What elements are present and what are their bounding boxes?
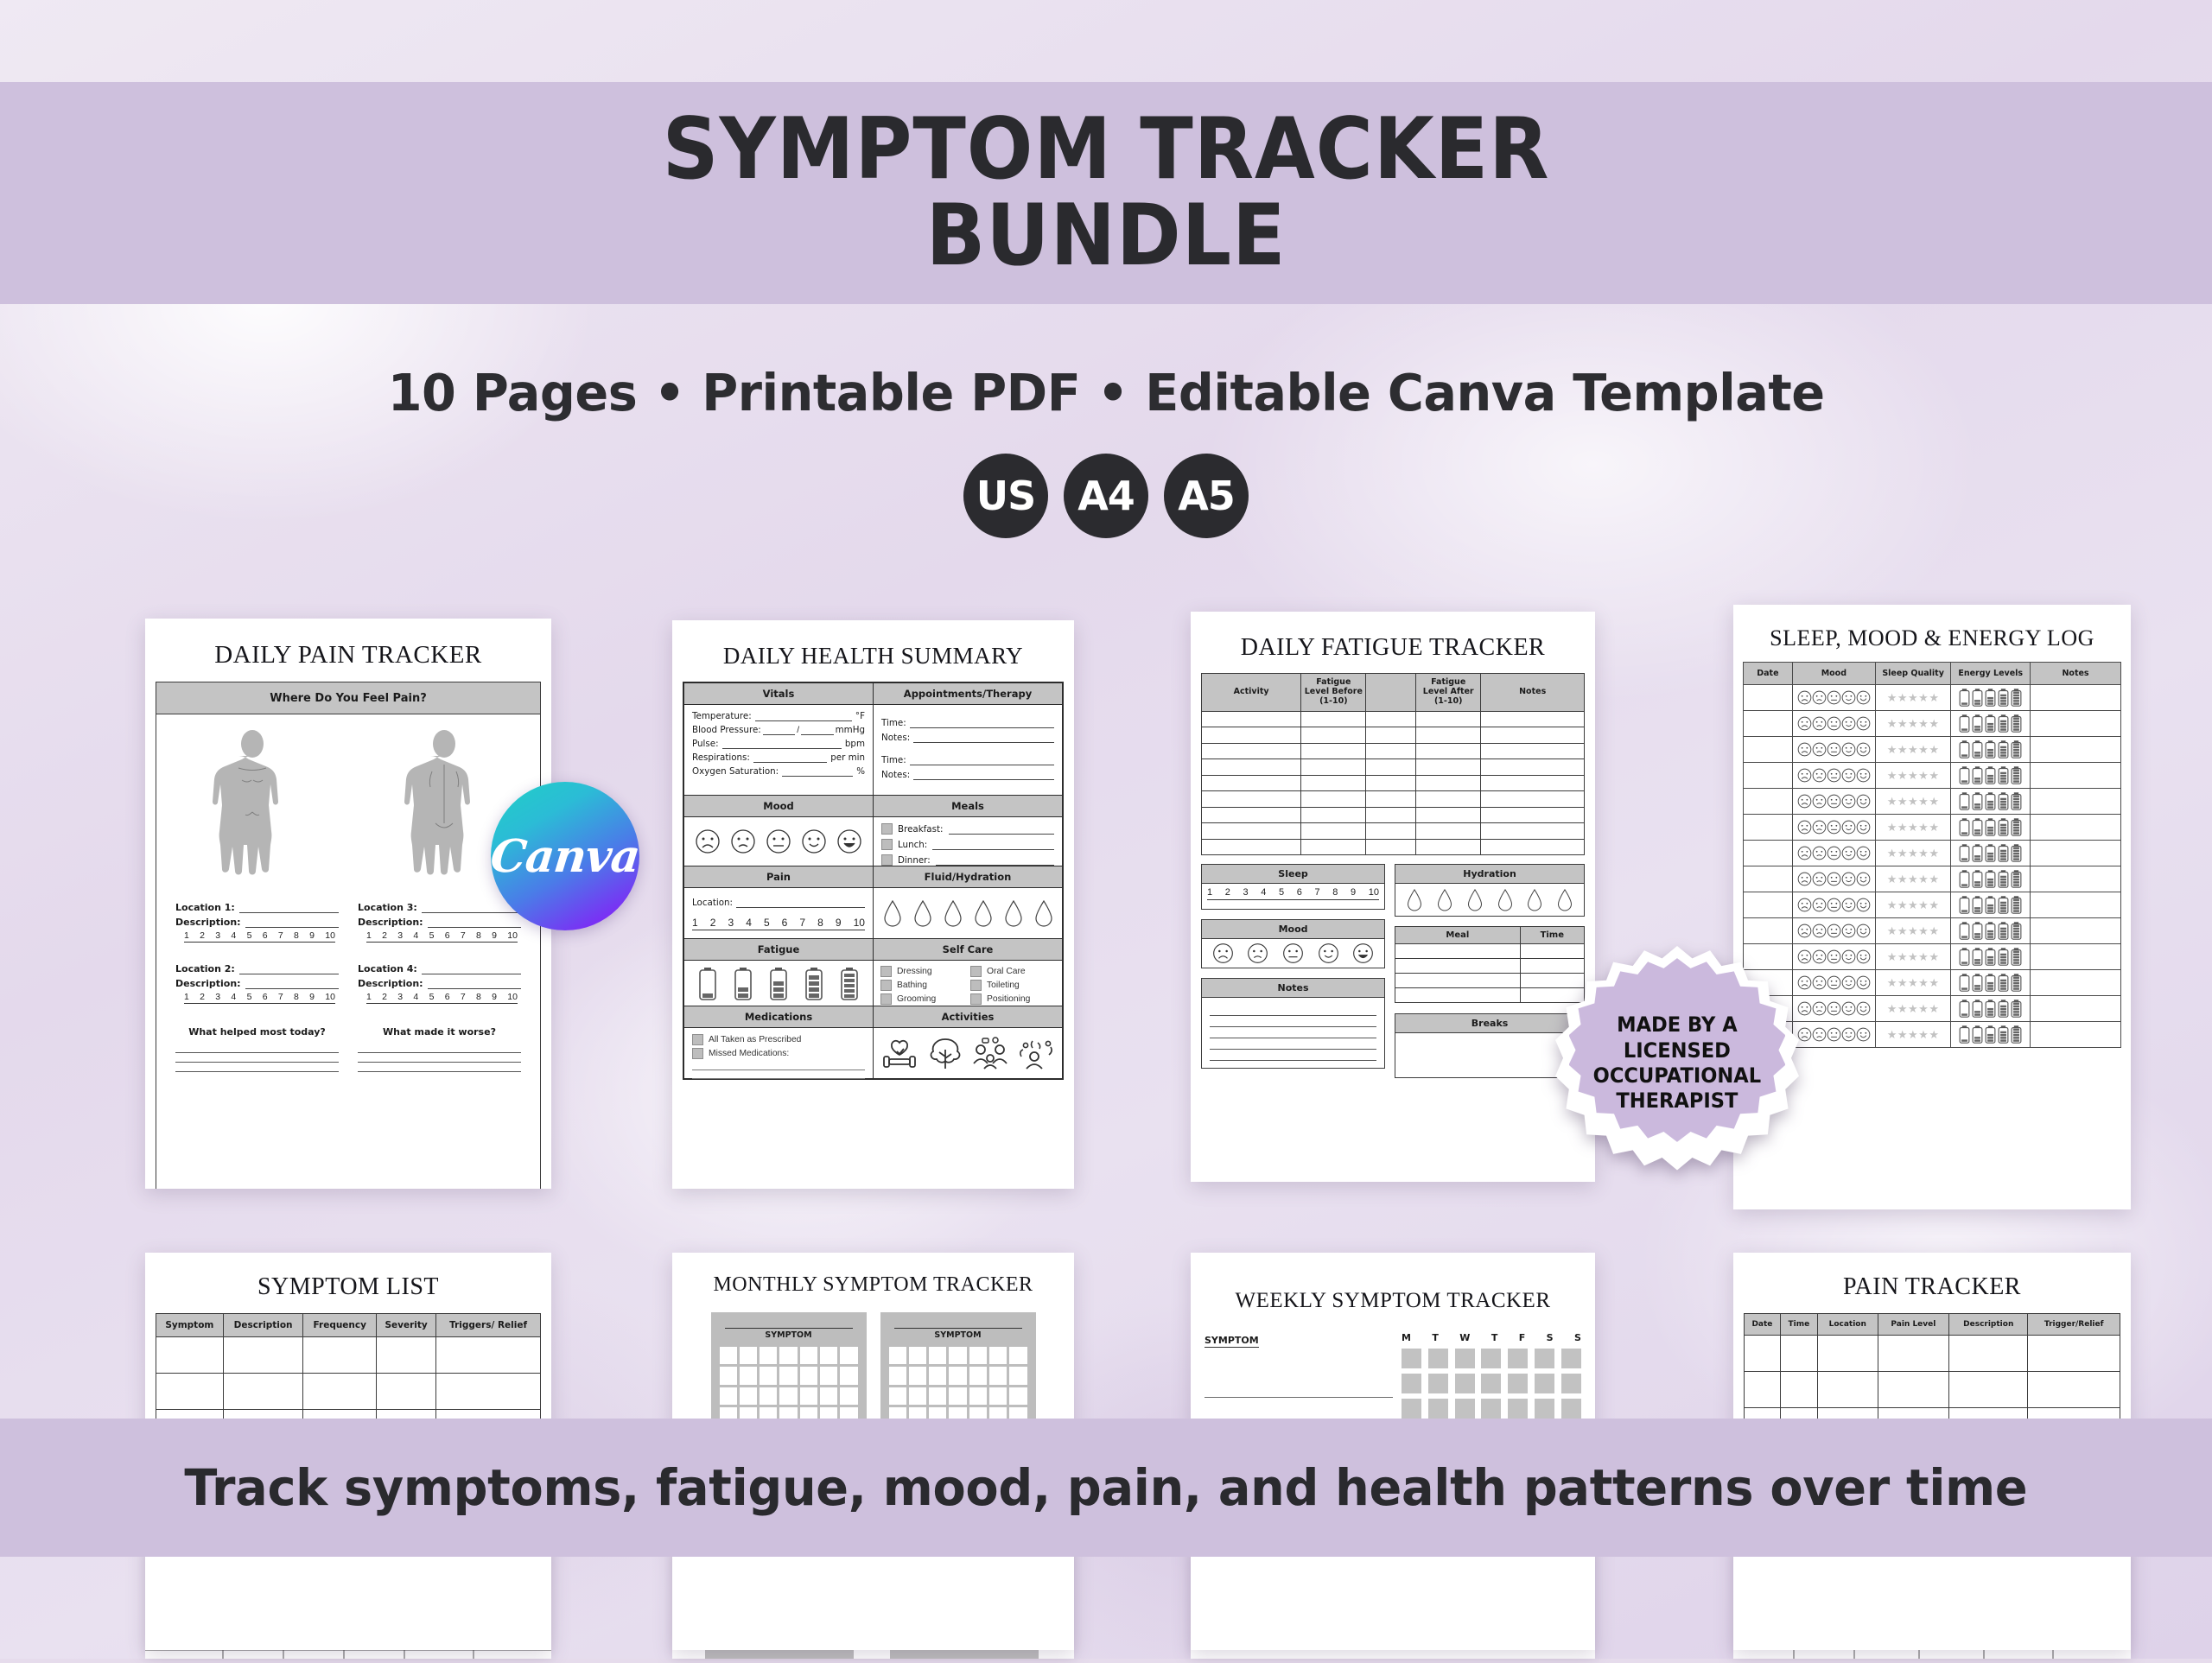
cell-sleep-quality[interactable]: ★★★★★ <box>1875 737 1950 763</box>
star-rating[interactable]: ★★★★★ <box>1887 950 1940 963</box>
battery-2-icon[interactable] <box>1972 998 1983 1020</box>
face-very-happy-icon[interactable] <box>1856 820 1871 835</box>
pain-scale[interactable]: 12345678910 <box>692 917 865 930</box>
cell-sleep-quality[interactable]: ★★★★★ <box>1875 1022 1950 1048</box>
cell-notes[interactable] <box>2031 1022 2121 1048</box>
face-very-happy-icon[interactable] <box>1856 846 1871 860</box>
face-happy-icon[interactable] <box>1841 742 1856 757</box>
battery-5-icon[interactable] <box>2011 739 2022 761</box>
cell-date[interactable] <box>1744 763 1793 789</box>
battery-4-icon[interactable] <box>1998 894 2009 917</box>
battery-4-icon[interactable] <box>1998 1024 2009 1046</box>
face-very-happy-icon[interactable] <box>1352 943 1374 964</box>
cell-energy-levels[interactable] <box>1951 841 2031 866</box>
star-rating[interactable]: ★★★★★ <box>1887 691 1940 704</box>
cell-mood[interactable] <box>1792 892 1875 918</box>
hobbies-icon[interactable] <box>1017 1036 1055 1070</box>
cell-date[interactable] <box>1744 892 1793 918</box>
cell-notes[interactable] <box>2031 737 2121 763</box>
face-very-happy-icon[interactable] <box>1856 898 1871 912</box>
battery-3-icon[interactable] <box>1985 920 1996 943</box>
battery-3-icon[interactable] <box>1985 946 1996 968</box>
checkbox-breakfast[interactable] <box>881 823 893 835</box>
star-rating[interactable]: ★★★★★ <box>1887 924 1940 937</box>
battery-2-icon[interactable] <box>1972 765 1983 787</box>
face-happy-icon[interactable] <box>1841 872 1856 886</box>
face-sad-icon[interactable] <box>1812 768 1827 783</box>
battery-2-icon[interactable] <box>1972 1024 1983 1046</box>
appointments-header: Appointments/Therapy <box>874 683 1062 705</box>
cell-energy-levels[interactable] <box>1951 1022 2031 1048</box>
table-row <box>1202 823 1585 840</box>
cell-notes[interactable] <box>2031 996 2121 1022</box>
face-happy-icon[interactable] <box>1841 898 1856 912</box>
face-happy-icon[interactable] <box>1841 1027 1856 1042</box>
battery-2-icon[interactable] <box>1972 946 1983 968</box>
face-very-sad-icon[interactable] <box>1797 742 1812 757</box>
face-very-sad-icon[interactable] <box>1797 924 1812 938</box>
battery-5-icon[interactable] <box>2011 998 2022 1020</box>
star-rating[interactable]: ★★★★★ <box>1887 717 1940 730</box>
cell-notes[interactable] <box>2031 892 2121 918</box>
star-rating[interactable]: ★★★★★ <box>1887 743 1940 756</box>
cell-sleep-quality[interactable]: ★★★★★ <box>1875 763 1950 789</box>
battery-2-icon[interactable] <box>1972 920 1983 943</box>
face-very-happy-icon[interactable] <box>1856 1001 1871 1016</box>
cell-mood[interactable] <box>1792 918 1875 944</box>
battery-3-icon[interactable] <box>769 967 788 1001</box>
face-very-sad-icon[interactable] <box>1797 768 1812 783</box>
fitness-heart-icon[interactable] <box>880 1036 918 1070</box>
battery-4-icon[interactable] <box>1998 868 2009 891</box>
face-very-sad-icon[interactable] <box>1797 975 1812 990</box>
vitals-fields[interactable]: Temperature:°F Blood Pressure:/mmHg Puls… <box>684 705 873 795</box>
cell-notes[interactable] <box>2031 815 2121 841</box>
cell-notes[interactable] <box>2031 841 2121 866</box>
face-neutral-icon[interactable] <box>1827 1001 1841 1016</box>
battery-1-icon[interactable] <box>1959 1024 1970 1046</box>
battery-4-icon[interactable] <box>1998 972 2009 994</box>
checkbox-dinner[interactable] <box>881 854 893 866</box>
battery-5-icon[interactable] <box>2011 790 2022 813</box>
battery-1-icon[interactable] <box>1959 713 1970 735</box>
cell-date[interactable] <box>1744 685 1793 711</box>
battery-4-icon[interactable] <box>1998 816 2009 839</box>
mood-face-row[interactable] <box>684 817 873 866</box>
cell-mood[interactable] <box>1792 711 1875 737</box>
water-drop-icon[interactable] <box>1406 888 1423 911</box>
battery-3-icon[interactable] <box>1985 1024 1996 1046</box>
battery-2-icon[interactable] <box>1972 739 1983 761</box>
battery-1-icon[interactable] <box>1959 920 1970 943</box>
cell-notes[interactable] <box>2031 918 2121 944</box>
battery-5-icon[interactable] <box>2011 946 2022 968</box>
battery-4-icon[interactable] <box>804 967 823 1001</box>
face-very-happy-icon[interactable] <box>1856 1027 1871 1042</box>
battery-5-icon[interactable] <box>2011 687 2022 709</box>
checkbox-missed-meds[interactable] <box>692 1048 703 1059</box>
cell-energy-levels[interactable] <box>1951 685 2031 711</box>
notes-lines[interactable] <box>1202 998 1384 1068</box>
cell-mood[interactable] <box>1792 737 1875 763</box>
cell-date[interactable] <box>1744 841 1793 866</box>
cell-sleep-quality[interactable]: ★★★★★ <box>1875 789 1950 815</box>
cell-mood[interactable] <box>1792 866 1875 892</box>
face-very-sad-icon[interactable] <box>1797 1001 1812 1016</box>
face-happy-icon[interactable] <box>1318 943 1339 964</box>
battery-4-icon[interactable] <box>1998 790 2009 813</box>
water-drop-icon[interactable] <box>1497 888 1514 911</box>
cell-date[interactable] <box>1744 918 1793 944</box>
battery-5-icon[interactable] <box>2011 842 2022 865</box>
cell-sleep-quality[interactable]: ★★★★★ <box>1875 996 1950 1022</box>
battery-5-icon[interactable] <box>2011 920 2022 943</box>
cell-notes[interactable] <box>2031 763 2121 789</box>
pain-scale[interactable]: 12345678910 <box>184 930 335 943</box>
cell-energy-levels[interactable] <box>1951 763 2031 789</box>
cell-sleep-quality[interactable]: ★★★★★ <box>1875 815 1950 841</box>
cell-mood[interactable] <box>1792 970 1875 996</box>
cell-sleep-quality[interactable]: ★★★★★ <box>1875 892 1950 918</box>
battery-1-icon[interactable] <box>1959 998 1970 1020</box>
star-rating[interactable]: ★★★★★ <box>1887 795 1940 808</box>
cell-notes[interactable] <box>2031 789 2121 815</box>
weekly-checkbox-row[interactable] <box>1402 1374 1581 1393</box>
page-card-daily-pain-tracker[interactable]: DAILY PAIN TRACKER Where Do You Feel Pai… <box>145 619 551 1189</box>
checkbox-bathing[interactable] <box>880 980 892 991</box>
battery-3-icon[interactable] <box>1985 687 1996 709</box>
pain-scale[interactable]: 12345678910 <box>366 992 518 1004</box>
face-sad-icon[interactable] <box>1812 794 1827 809</box>
face-sad-icon[interactable] <box>1812 742 1827 757</box>
fatigue-battery-row[interactable] <box>684 961 873 1006</box>
checkbox-all-taken[interactable] <box>692 1034 703 1045</box>
face-very-happy-icon[interactable] <box>1856 975 1871 990</box>
cell-date[interactable] <box>1744 866 1793 892</box>
face-sad-icon[interactable] <box>1812 872 1827 886</box>
meals-section: Meals Breakfast: Lunch: Dinner: <box>874 796 1062 866</box>
battery-1-icon[interactable] <box>698 967 717 1001</box>
cell-sleep-quality[interactable]: ★★★★★ <box>1875 944 1950 970</box>
face-very-happy-icon[interactable] <box>1856 716 1871 731</box>
battery-4-icon[interactable] <box>1998 687 2009 709</box>
face-neutral-icon[interactable] <box>1827 846 1841 860</box>
face-neutral-icon[interactable] <box>1827 1027 1841 1042</box>
face-happy-icon[interactable] <box>1841 1001 1856 1016</box>
pain-scale[interactable]: 12345678910 <box>184 992 335 1004</box>
question-worse-block: What made it worse? <box>358 1012 521 1072</box>
face-neutral-icon[interactable] <box>1827 768 1841 783</box>
battery-1-icon[interactable] <box>1959 765 1970 787</box>
water-drop-icon[interactable] <box>973 899 994 927</box>
battery-1-icon[interactable] <box>1959 687 1970 709</box>
star-rating[interactable]: ★★★★★ <box>1887 873 1940 885</box>
hydration-drop-row[interactable] <box>1395 884 1584 916</box>
cell-mood[interactable] <box>1792 996 1875 1022</box>
cell-notes[interactable] <box>2031 866 2121 892</box>
cell-sleep-quality[interactable]: ★★★★★ <box>1875 841 1950 866</box>
battery-2-icon[interactable] <box>1972 894 1983 917</box>
cell-mood[interactable] <box>1792 685 1875 711</box>
table-row <box>1745 1372 2120 1408</box>
battery-1-icon[interactable] <box>1959 739 1970 761</box>
water-drop-icon[interactable] <box>943 899 963 927</box>
page-title-monthly-tracker: MONTHLY SYMPTOM TRACKER <box>672 1273 1074 1297</box>
face-sad-icon[interactable] <box>1812 949 1827 964</box>
face-sad-icon[interactable] <box>1812 1001 1827 1016</box>
hydration-drop-row[interactable] <box>874 888 1062 938</box>
battery-3-icon[interactable] <box>1985 790 1996 813</box>
face-sad-icon[interactable] <box>1812 846 1827 860</box>
battery-5-icon[interactable] <box>2011 972 2022 994</box>
pain-fields[interactable]: Location: 12345678910 <box>684 888 873 938</box>
battery-4-icon[interactable] <box>1998 842 2009 865</box>
battery-2-icon[interactable] <box>1972 972 1983 994</box>
hydration-body[interactable] <box>1395 884 1585 917</box>
face-very-sad-icon[interactable] <box>1797 690 1812 705</box>
page-card-daily-health-summary[interactable]: DAILY HEALTH SUMMARY Vitals Temperature:… <box>672 620 1074 1189</box>
face-neutral-icon[interactable] <box>1827 820 1841 835</box>
checkbox-toileting[interactable] <box>970 980 982 991</box>
face-neutral-icon[interactable] <box>1827 898 1841 912</box>
battery-2-icon[interactable] <box>734 967 753 1001</box>
star-rating[interactable]: ★★★★★ <box>1887 1028 1940 1041</box>
cell-mood[interactable] <box>1792 841 1875 866</box>
battery-5-icon[interactable] <box>2011 894 2022 917</box>
face-neutral-icon[interactable] <box>1827 949 1841 964</box>
self-care-list[interactable]: Dressing Oral Care Bathing Toileting Gro… <box>874 961 1062 1006</box>
face-neutral-icon[interactable] <box>1827 716 1841 731</box>
cell-energy-levels[interactable] <box>1951 944 2031 970</box>
pain-scale[interactable]: 12345678910 <box>366 930 518 943</box>
page-card-daily-fatigue-tracker[interactable]: DAILY FATIGUE TRACKER Activity Fatigue L… <box>1191 612 1595 1182</box>
battery-4-icon[interactable] <box>1998 998 2009 1020</box>
battery-4-icon[interactable] <box>1998 739 2009 761</box>
face-very-sad-icon[interactable] <box>695 828 721 854</box>
battery-2-icon[interactable] <box>1972 790 1983 813</box>
battery-1-icon[interactable] <box>1959 868 1970 891</box>
face-happy-icon[interactable] <box>1841 690 1856 705</box>
water-drop-icon[interactable] <box>1466 888 1484 911</box>
checkbox-oral-care[interactable] <box>970 966 982 977</box>
battery-3-icon[interactable] <box>1985 842 1996 865</box>
water-drop-icon[interactable] <box>1526 888 1543 911</box>
sleep-scale-body[interactable]: 12345678910 <box>1201 884 1385 910</box>
face-very-sad-icon[interactable] <box>1797 872 1812 886</box>
face-sad-icon[interactable] <box>1812 924 1827 938</box>
face-happy-icon[interactable] <box>1841 794 1856 809</box>
battery-2-icon[interactable] <box>1972 816 1983 839</box>
water-drop-icon[interactable] <box>882 899 903 927</box>
face-sad-icon[interactable] <box>1812 716 1827 731</box>
battery-5-icon[interactable] <box>840 967 859 1001</box>
cell-mood[interactable] <box>1792 789 1875 815</box>
star-rating[interactable]: ★★★★★ <box>1887 847 1940 860</box>
table-row: ★★★★★ <box>1744 711 2121 737</box>
tree-icon[interactable] <box>926 1036 964 1070</box>
face-happy-icon[interactable] <box>1841 924 1856 938</box>
face-happy-icon[interactable] <box>1841 949 1856 964</box>
battery-2-icon[interactable] <box>1972 713 1983 735</box>
face-very-sad-icon[interactable] <box>1797 898 1812 912</box>
battery-1-icon[interactable] <box>1959 972 1970 994</box>
face-very-sad-icon[interactable] <box>1797 716 1812 731</box>
battery-2-icon[interactable] <box>1972 868 1983 891</box>
cell-energy-levels[interactable] <box>1951 996 2031 1022</box>
water-drop-icon[interactable] <box>1436 888 1453 911</box>
face-neutral-icon[interactable] <box>766 828 791 854</box>
cell-sleep-quality[interactable]: ★★★★★ <box>1875 711 1950 737</box>
subtitle-text: 10 Pages • Printable PDF • Editable Canv… <box>388 363 1825 422</box>
cell-mood[interactable] <box>1792 944 1875 970</box>
mood-face-row[interactable] <box>1202 939 1384 968</box>
battery-1-icon[interactable] <box>1959 946 1970 968</box>
notes-body[interactable] <box>1201 998 1385 1069</box>
cell-mood[interactable] <box>1792 815 1875 841</box>
face-sad-icon[interactable] <box>1812 898 1827 912</box>
cell-notes[interactable] <box>2031 970 2121 996</box>
face-very-happy-icon[interactable] <box>1856 924 1871 938</box>
cell-notes[interactable] <box>2031 944 2121 970</box>
face-neutral-icon[interactable] <box>1827 690 1841 705</box>
battery-3-icon[interactable] <box>1985 816 1996 839</box>
checkbox-dressing[interactable] <box>880 966 892 977</box>
cell-mood[interactable] <box>1792 1022 1875 1048</box>
face-sad-icon[interactable] <box>1812 690 1827 705</box>
cell-sleep-quality[interactable]: ★★★★★ <box>1875 866 1950 892</box>
star-rating[interactable]: ★★★★★ <box>1887 1002 1940 1015</box>
cell-energy-levels[interactable] <box>1951 866 2031 892</box>
battery-5-icon[interactable] <box>2011 1024 2022 1046</box>
face-neutral-icon[interactable] <box>1827 975 1841 990</box>
cell-sleep-quality[interactable]: ★★★★★ <box>1875 970 1950 996</box>
cell-date[interactable] <box>1744 815 1793 841</box>
face-very-sad-icon[interactable] <box>1797 949 1812 964</box>
battery-4-icon[interactable] <box>1998 920 2009 943</box>
face-sad-icon[interactable] <box>1812 975 1827 990</box>
checkbox-positioning[interactable] <box>970 993 982 1005</box>
water-drop-icon[interactable] <box>1556 888 1573 911</box>
canva-logo-badge[interactable]: Canva <box>491 782 639 930</box>
cell-energy-levels[interactable] <box>1951 918 2031 944</box>
face-very-happy-icon[interactable] <box>1856 872 1871 886</box>
water-drop-icon[interactable] <box>1033 899 1054 927</box>
cell-sleep-quality[interactable]: ★★★★★ <box>1875 918 1950 944</box>
face-very-sad-icon[interactable] <box>1797 1027 1812 1042</box>
face-neutral-icon[interactable] <box>1827 924 1841 938</box>
checkbox-lunch[interactable] <box>881 839 893 850</box>
face-happy-icon[interactable] <box>1841 768 1856 783</box>
battery-3-icon[interactable] <box>1985 868 1996 891</box>
battery-4-icon[interactable] <box>1998 946 2009 968</box>
battery-4-icon[interactable] <box>1998 765 2009 787</box>
battery-3-icon[interactable] <box>1985 713 1996 735</box>
cell-date[interactable] <box>1744 789 1793 815</box>
water-drop-icon[interactable] <box>912 899 933 927</box>
mood-face-body[interactable] <box>1201 939 1385 968</box>
appointments-fields[interactable]: Time: Notes: Time: Notes: <box>874 705 1062 795</box>
face-sad-icon[interactable] <box>1247 943 1268 964</box>
face-very-happy-icon[interactable] <box>1856 768 1871 783</box>
weekly-checkbox-row[interactable] <box>1402 1349 1581 1368</box>
activities-icon-row[interactable] <box>874 1028 1062 1078</box>
star-rating[interactable]: ★★★★★ <box>1887 976 1940 989</box>
face-happy-icon[interactable] <box>801 828 827 854</box>
face-happy-icon[interactable] <box>1841 975 1856 990</box>
face-happy-icon[interactable] <box>1841 716 1856 731</box>
battery-5-icon[interactable] <box>2011 765 2022 787</box>
battery-1-icon[interactable] <box>1959 816 1970 839</box>
face-sad-icon[interactable] <box>1812 1027 1827 1042</box>
face-neutral-icon[interactable] <box>1827 872 1841 886</box>
battery-5-icon[interactable] <box>2011 713 2022 735</box>
face-very-happy-icon[interactable] <box>1856 690 1871 705</box>
battery-3-icon[interactable] <box>1985 765 1996 787</box>
battery-1-icon[interactable] <box>1959 842 1970 865</box>
cell-sleep-quality[interactable]: ★★★★★ <box>1875 685 1950 711</box>
face-neutral-icon[interactable] <box>1282 943 1304 964</box>
cell-notes[interactable] <box>2031 685 2121 711</box>
cell-date[interactable] <box>1744 711 1793 737</box>
face-happy-icon[interactable] <box>1841 846 1856 860</box>
cell-energy-levels[interactable] <box>1951 815 2031 841</box>
sleep-scale[interactable]: 12345678910 <box>1202 884 1384 899</box>
face-very-happy-icon[interactable] <box>836 828 862 854</box>
cell-date[interactable] <box>1744 737 1793 763</box>
battery-3-icon[interactable] <box>1985 972 1996 994</box>
cell-energy-levels[interactable] <box>1951 789 2031 815</box>
cell-energy-levels[interactable] <box>1951 711 2031 737</box>
face-very-sad-icon[interactable] <box>1212 943 1234 964</box>
battery-1-icon[interactable] <box>1959 894 1970 917</box>
star-rating[interactable]: ★★★★★ <box>1887 769 1940 782</box>
battery-1-icon[interactable] <box>1959 790 1970 813</box>
face-happy-icon[interactable] <box>1841 820 1856 835</box>
face-neutral-icon[interactable] <box>1827 794 1841 809</box>
cell-notes[interactable] <box>2031 711 2121 737</box>
meals-list[interactable]: Breakfast: Lunch: Dinner: <box>874 817 1062 866</box>
weekly-checkbox-row[interactable] <box>1402 1399 1581 1419</box>
medications-list[interactable]: All Taken as Prescribed Missed Medicatio… <box>684 1028 873 1078</box>
face-sad-icon[interactable] <box>730 828 756 854</box>
cell-energy-levels[interactable] <box>1951 737 2031 763</box>
battery-4-icon[interactable] <box>1998 713 2009 735</box>
face-neutral-icon[interactable] <box>1827 742 1841 757</box>
face-very-sad-icon[interactable] <box>1797 794 1812 809</box>
cell-energy-levels[interactable] <box>1951 892 2031 918</box>
face-very-happy-icon[interactable] <box>1856 742 1871 757</box>
battery-3-icon[interactable] <box>1985 739 1996 761</box>
checkbox-grooming[interactable] <box>880 993 892 1005</box>
face-very-sad-icon[interactable] <box>1797 846 1812 860</box>
face-very-happy-icon[interactable] <box>1856 949 1871 964</box>
battery-5-icon[interactable] <box>2011 868 2022 891</box>
cell-energy-levels[interactable] <box>1951 970 2031 996</box>
face-very-happy-icon[interactable] <box>1856 794 1871 809</box>
battery-2-icon[interactable] <box>1972 842 1983 865</box>
social-group-icon[interactable] <box>971 1036 1009 1070</box>
star-rating[interactable]: ★★★★★ <box>1887 898 1940 911</box>
battery-3-icon[interactable] <box>1985 998 1996 1020</box>
battery-5-icon[interactable] <box>2011 816 2022 839</box>
face-sad-icon[interactable] <box>1812 820 1827 835</box>
water-drop-icon[interactable] <box>1003 899 1024 927</box>
battery-3-icon[interactable] <box>1985 894 1996 917</box>
star-rating[interactable]: ★★★★★ <box>1887 821 1940 834</box>
face-very-sad-icon[interactable] <box>1797 820 1812 835</box>
cell-mood[interactable] <box>1792 763 1875 789</box>
battery-2-icon[interactable] <box>1972 687 1983 709</box>
